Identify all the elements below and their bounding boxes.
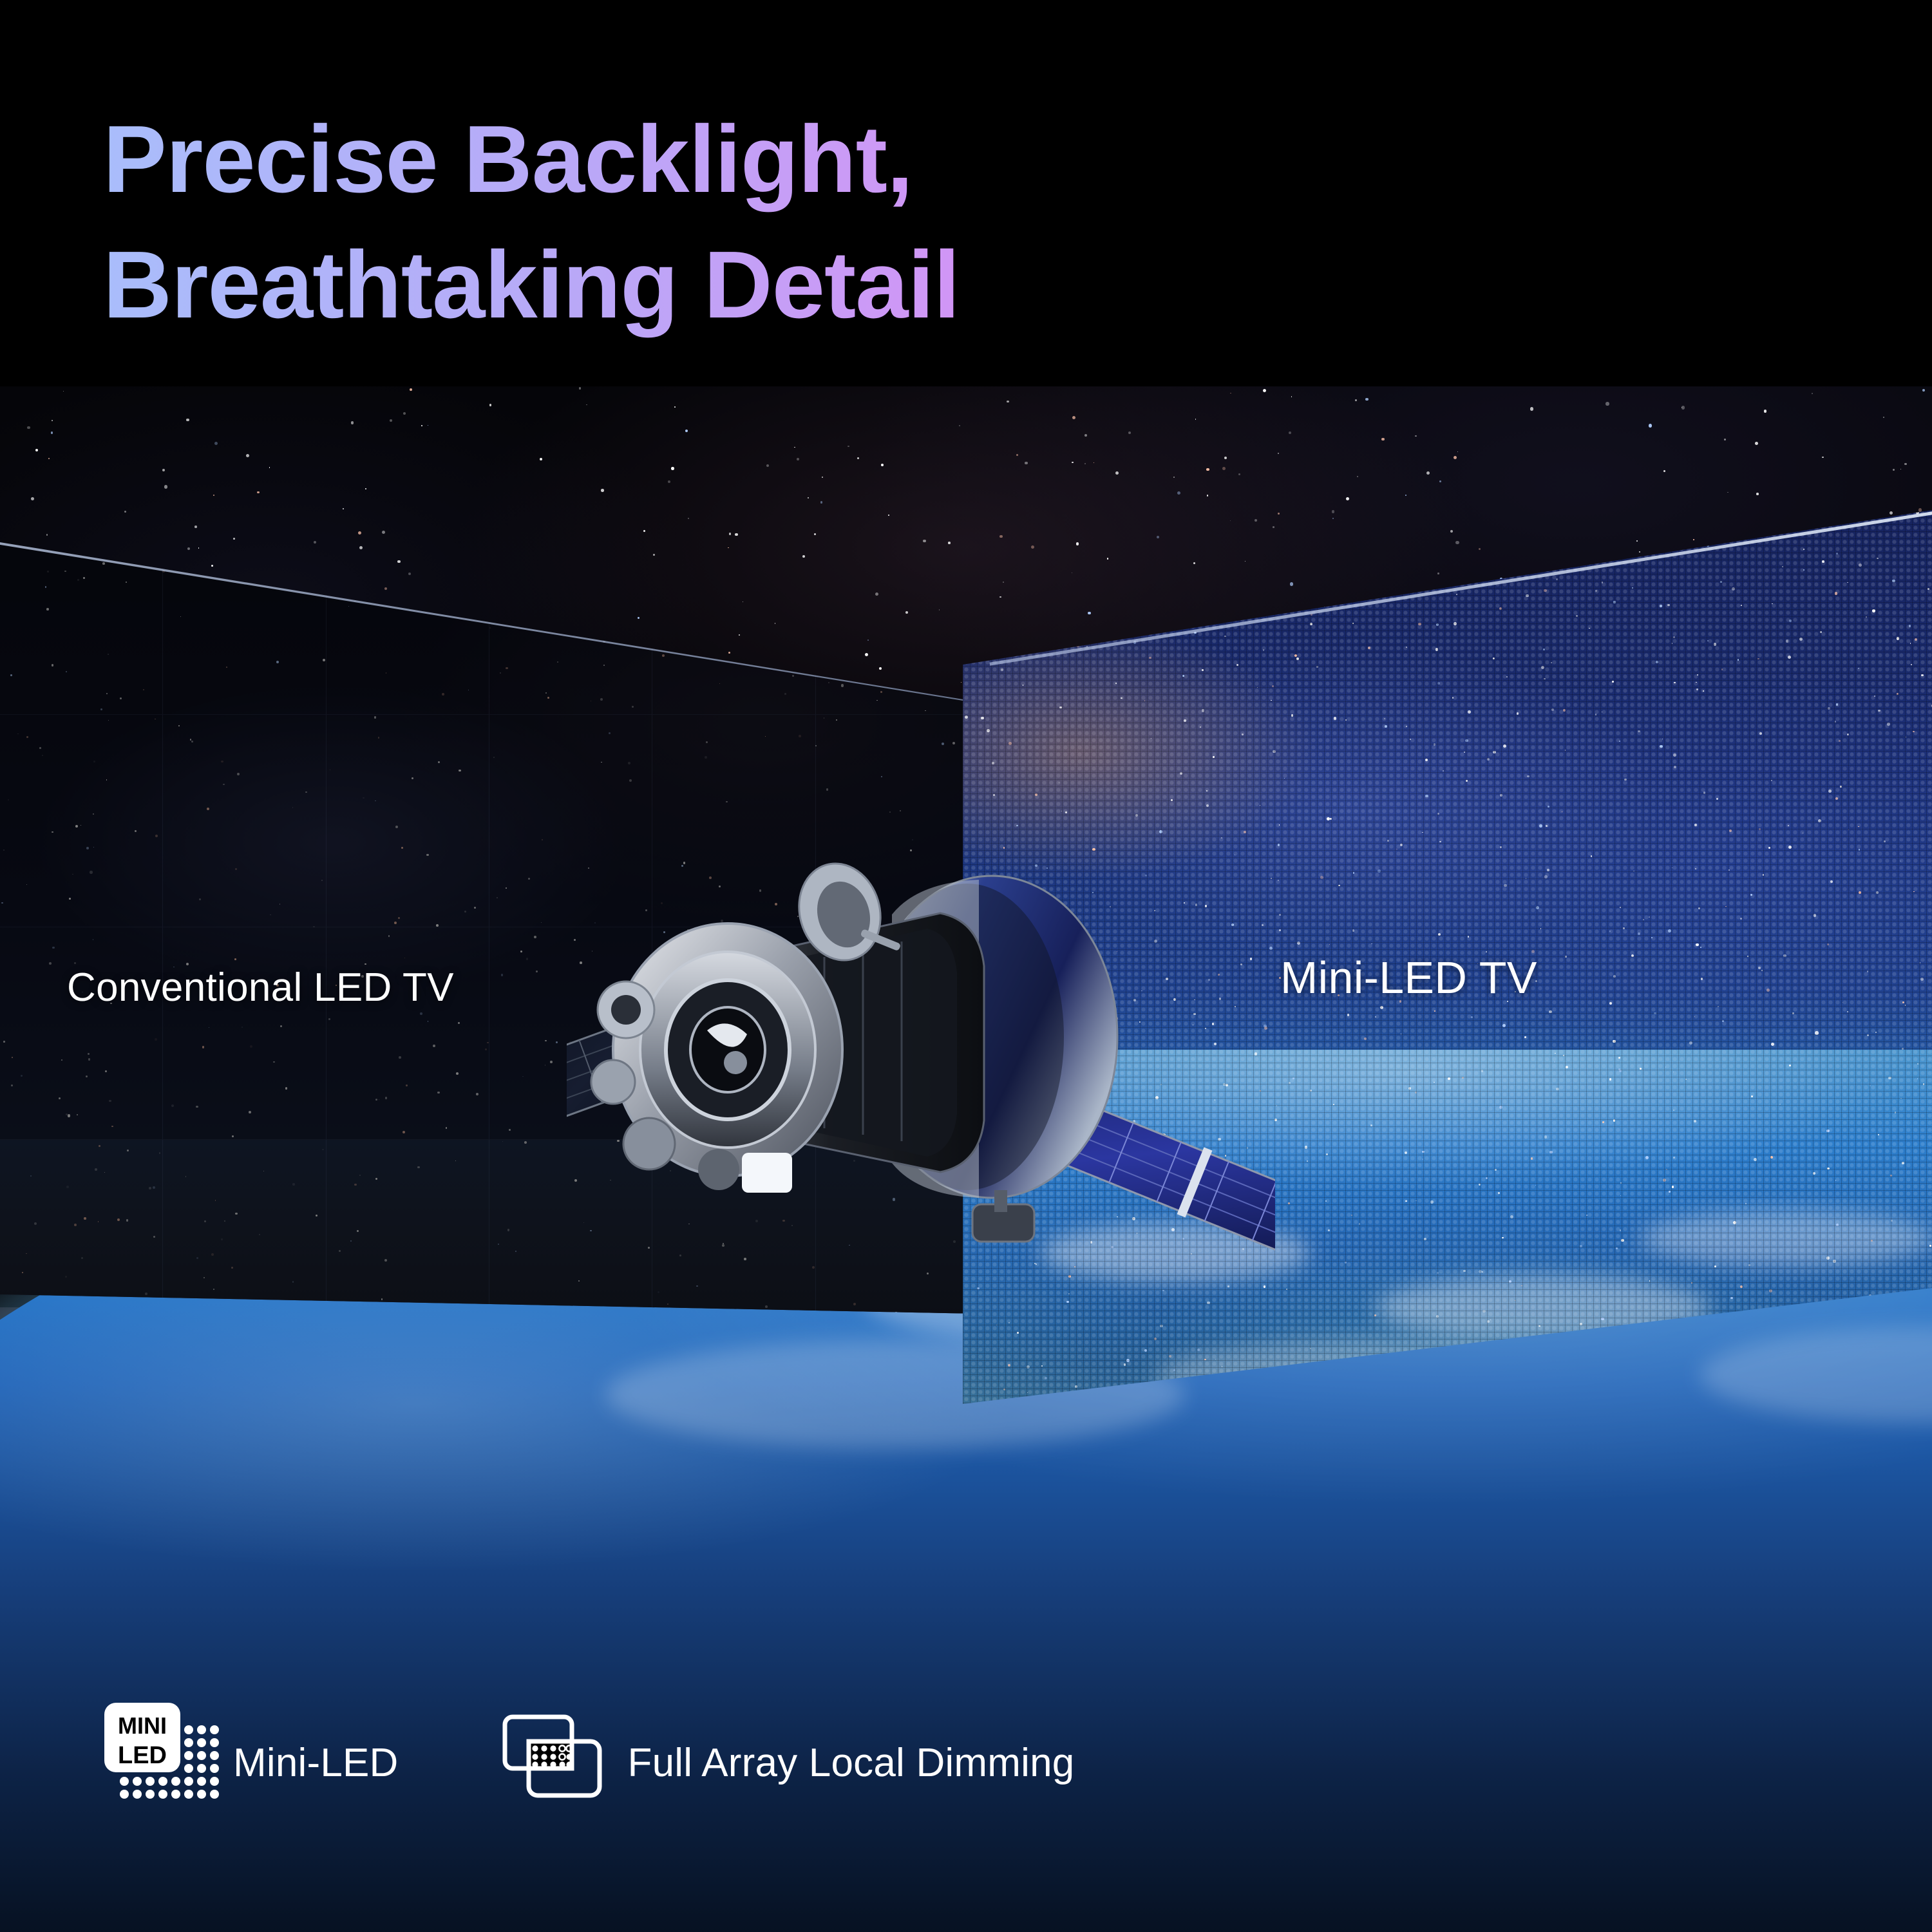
headline-line-1: Precise Backlight, xyxy=(103,97,1520,222)
conventional-led-tv-label: Conventional LED TV xyxy=(67,965,454,1010)
full-array-local-dimming-icon xyxy=(502,1713,611,1813)
headline-line-2: Breathtaking Detail xyxy=(103,222,1520,348)
mini-led-chip-icon: MINI LED xyxy=(103,1700,225,1826)
headline: Precise Backlight, Breathtaking Detail xyxy=(103,97,1520,348)
promo-banner: Conventional LED TV Mini-LED TV Precise … xyxy=(0,0,1932,1932)
feature-badges: MINI LED xyxy=(103,1700,1074,1826)
feature-label-mini-led: Mini-LED xyxy=(233,1740,399,1786)
satellite-body xyxy=(591,854,1117,1242)
feature-label-full-array-local-dimming: Full Array Local Dimming xyxy=(628,1740,1075,1786)
mini-led-badge-line-1: MINI xyxy=(118,1712,167,1739)
feature-full-array-local-dimming: Full Array Local Dimming xyxy=(502,1713,1075,1813)
mini-led-badge-line-2: LED xyxy=(118,1742,167,1769)
feature-mini-led: MINI LED xyxy=(103,1700,399,1826)
satellite-illustration xyxy=(567,760,1275,1340)
mini-led-tv-label: Mini-LED TV xyxy=(1280,952,1537,1003)
